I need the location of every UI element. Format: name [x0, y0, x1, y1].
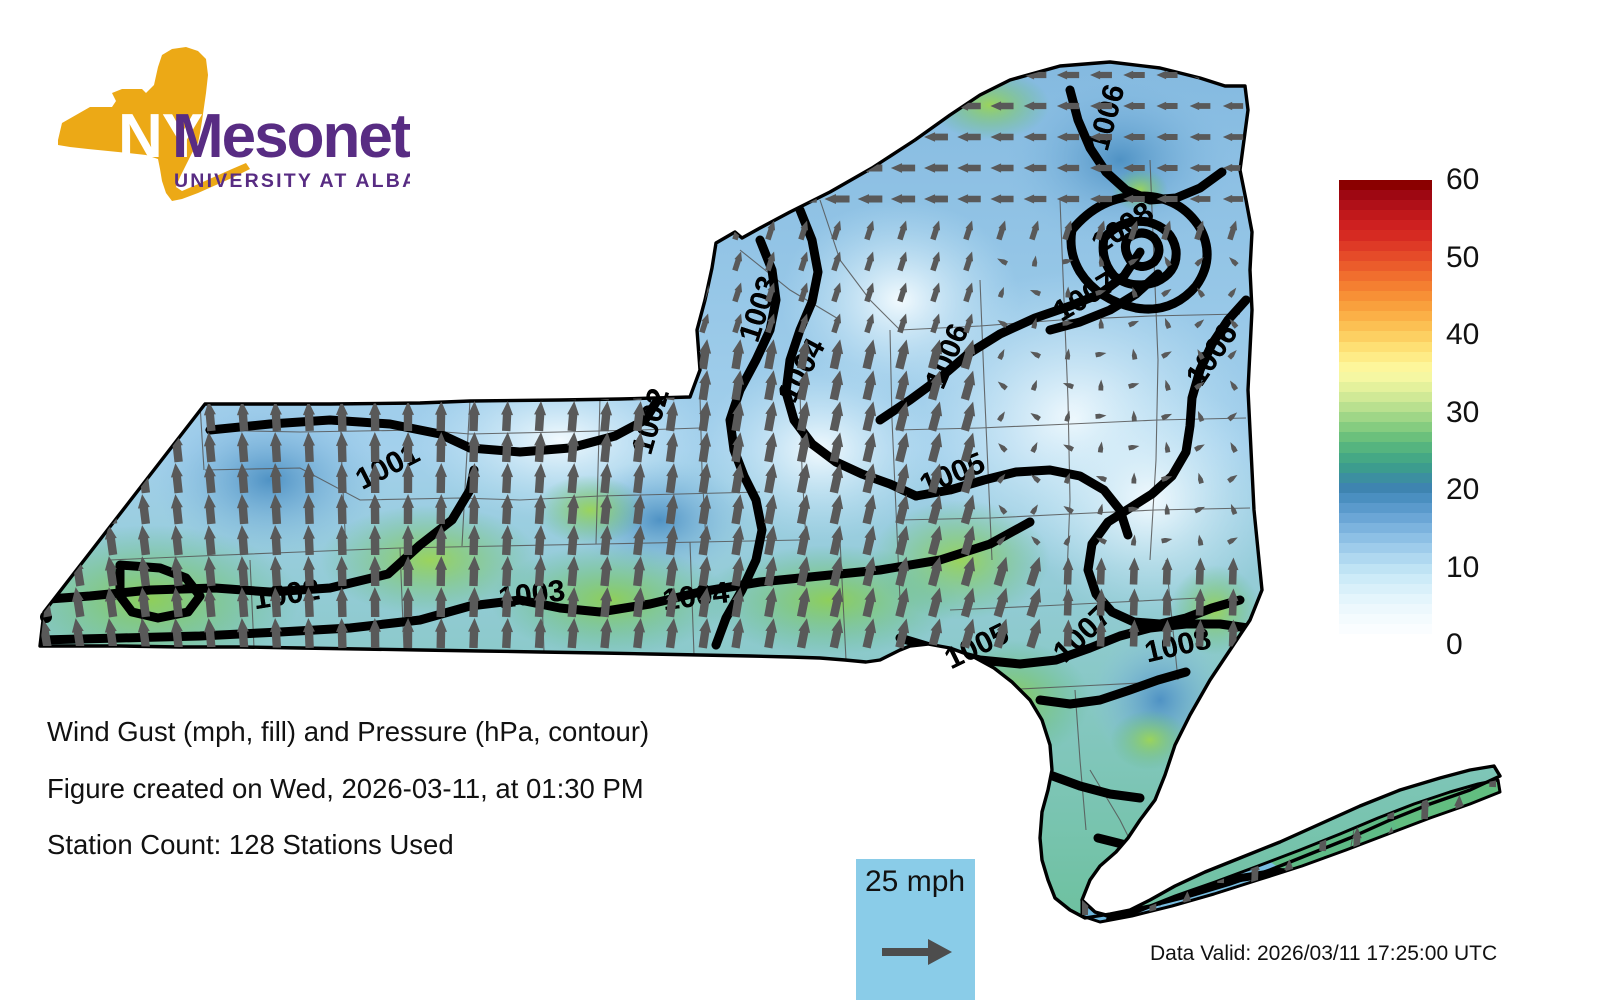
wind-gust-arrow	[136, 276, 152, 307]
wind-gust-arrow	[1216, 827, 1226, 851]
colorbar-band	[1339, 230, 1432, 240]
wind-gust-arrow	[1352, 859, 1362, 883]
logo-mesonet-text: Mesonet	[172, 102, 410, 171]
wind-gust-arrow	[402, 246, 414, 276]
wind-gust-arrow	[70, 493, 87, 525]
wind-gust-arrow	[203, 277, 218, 308]
wind-gust-arrow	[467, 246, 480, 276]
colorbar-band	[1339, 301, 1432, 311]
wind-gust-arrow	[70, 245, 87, 277]
wind-gust-arrow	[435, 60, 448, 90]
colorbar-band	[1339, 402, 1432, 412]
wind-gust-arrow	[103, 338, 119, 369]
colorbar-band	[1339, 604, 1432, 614]
colorbar-band	[1339, 574, 1432, 584]
colorbar-band	[1339, 271, 1432, 281]
wind-gust-arrow	[70, 307, 87, 339]
wind-gust-arrow	[566, 215, 580, 246]
wind-gust-arrow	[533, 60, 547, 91]
wind-gust-arrow	[1250, 891, 1260, 915]
wind-gust-arrow	[791, 70, 816, 80]
wind-gust-arrow	[1318, 891, 1328, 915]
wind-gust-arrow	[1352, 763, 1362, 787]
wind-gust-arrow	[1420, 859, 1430, 883]
wind-gust-arrow	[1454, 859, 1464, 883]
wind-gust-arrow	[136, 431, 152, 462]
wind-gust-arrow	[236, 370, 250, 401]
wind-gust-arrow	[169, 400, 184, 431]
colorbar-band	[1339, 624, 1432, 634]
wind-gust-arrow	[103, 493, 119, 524]
wind-gust-arrow	[203, 215, 218, 246]
wind-gust-arrow	[533, 308, 547, 339]
wind-gust-arrow	[731, 64, 745, 85]
wind-gust-arrow	[70, 431, 87, 463]
arrow-right-icon	[882, 935, 954, 969]
wind-gust-arrow	[402, 308, 414, 338]
colorbar-band	[1339, 321, 1432, 331]
wind-gust-arrow	[632, 157, 646, 178]
logo-subtitle-text: UNIVERSITY AT ALBANY	[174, 170, 410, 192]
wind-gust-arrow	[632, 312, 646, 333]
wind-gust-arrow	[791, 101, 816, 111]
wind-gust-arrow	[37, 493, 54, 525]
wind-gust-arrow	[533, 277, 547, 308]
wind-gust-arrow	[1386, 763, 1396, 787]
wind-gust-arrow	[435, 277, 448, 307]
wind-gust-arrow	[435, 246, 448, 276]
colorbar-tick-label: 30	[1446, 398, 1479, 428]
wind-gust-arrow	[632, 188, 646, 209]
wind-gust-arrow	[467, 91, 480, 121]
wind-gust-arrow	[698, 188, 712, 209]
wind-gust-arrow	[37, 462, 54, 494]
wind-gust-arrow	[599, 369, 614, 400]
wind-gust-arrow	[533, 246, 547, 277]
wind-gust-arrow	[467, 215, 480, 245]
wind-gust-arrow	[1454, 891, 1464, 915]
wind-gust-arrow	[500, 122, 514, 153]
wind-gust-arrow	[302, 246, 315, 277]
wind-gust-arrow	[731, 126, 745, 147]
colorbar-band	[1339, 533, 1432, 543]
wind-gust-arrow	[599, 183, 614, 214]
wind-gust-arrow	[632, 95, 646, 116]
wind-gust-arrow	[500, 370, 514, 401]
colorbar-band	[1339, 291, 1432, 301]
wind-gust-arrow	[500, 277, 514, 308]
wind-gust-arrow	[103, 431, 119, 462]
wind-gust-arrow	[369, 215, 381, 245]
wind-gust-arrow	[136, 245, 152, 276]
wind-gust-arrow	[1250, 827, 1260, 851]
wind-gust-arrow	[957, 70, 980, 79]
caption-created: Figure created on Wed, 2026-03-11, at 01…	[47, 775, 649, 803]
colorbar	[1339, 180, 1432, 645]
wind-gust-arrow	[37, 524, 54, 556]
colorbar-band	[1339, 412, 1432, 422]
wind-gust-arrow	[402, 277, 414, 307]
wind-gust-arrow	[435, 339, 448, 369]
colorbar-band	[1339, 634, 1432, 644]
colorbar-tick-label: 50	[1446, 243, 1479, 273]
wind-gust-arrow	[698, 64, 712, 85]
wind-gust-arrow	[37, 431, 54, 463]
colorbar-band	[1339, 372, 1432, 382]
colorbar-tick-label: 60	[1446, 165, 1479, 195]
wind-gust-arrow	[302, 370, 315, 401]
wind-gust-arrow	[302, 308, 315, 339]
wind-gust-arrow	[103, 245, 119, 276]
wind-gust-arrow	[203, 370, 218, 401]
wind-gust-arrow	[369, 370, 381, 400]
wind-gust-arrow	[500, 91, 514, 122]
wind-gust-arrow	[665, 188, 679, 209]
wind-gust-arrow	[1488, 827, 1498, 851]
colorbar-band	[1339, 614, 1432, 624]
colorbar-band	[1339, 493, 1432, 503]
colorbar-band	[1339, 503, 1432, 513]
wind-gust-arrow	[1420, 891, 1430, 915]
wind-gust-arrow	[236, 308, 250, 339]
wind-gust-arrow	[533, 122, 547, 153]
colorbar-tick-label: 40	[1446, 320, 1479, 350]
wind-gust-arrow	[402, 370, 414, 400]
wind-gust-arrow	[103, 400, 119, 431]
colorbar-tick-label: 20	[1446, 475, 1479, 505]
colorbar-band	[1339, 473, 1432, 483]
colorbar-band	[1339, 251, 1432, 261]
wind-gust-arrow	[103, 462, 119, 493]
wind-gust-arrow	[136, 214, 152, 245]
colorbar-band	[1339, 392, 1432, 402]
wind-gust-arrow	[336, 370, 349, 400]
wind-gust-arrow	[1182, 795, 1192, 819]
wind-gust-arrow	[599, 152, 614, 183]
wind-gust-arrow	[236, 215, 250, 246]
wind-gust-arrow	[891, 101, 915, 111]
wind-gust-arrow	[924, 70, 948, 80]
wind-gust-arrow	[37, 245, 54, 277]
wind-gust-arrow	[70, 400, 87, 432]
wind-gust-arrow	[665, 64, 679, 85]
wind-gust-arrow	[37, 307, 54, 339]
colorbar-band	[1339, 513, 1432, 523]
wind-gust-arrow	[824, 163, 849, 173]
wind-gust-arrow	[500, 246, 514, 277]
wind-gust-arrow	[467, 339, 480, 369]
wind-gust-arrow	[37, 555, 54, 587]
colorbar-band	[1339, 553, 1432, 563]
wind-gust-arrow	[103, 307, 119, 338]
wind-gust-arrow	[599, 276, 614, 307]
wind-gust-arrow	[269, 277, 283, 308]
wind-gust-arrow	[136, 307, 152, 338]
wind-gust-arrow	[435, 308, 448, 338]
colorbar-band	[1339, 442, 1432, 452]
wind-gust-arrow	[37, 369, 54, 401]
wind-gust-arrow	[269, 339, 283, 370]
wind-gust-arrow	[435, 122, 448, 152]
wind-gust-arrow	[698, 126, 712, 147]
wind-gust-arrow	[269, 308, 283, 339]
wind-gust-arrow	[533, 339, 547, 370]
wind-gust-arrow	[599, 338, 614, 369]
wind-gust-arrow	[698, 95, 712, 116]
wind-gust-arrow	[103, 369, 119, 400]
wind-gust-arrow	[891, 70, 915, 80]
wind-gust-arrow	[1223, 71, 1243, 79]
wind-gust-arrow	[858, 132, 883, 142]
wind-gust-arrow	[136, 338, 152, 369]
wind-gust-arrow	[467, 370, 480, 400]
colorbar-band	[1339, 180, 1432, 190]
wind-gust-arrow	[236, 277, 250, 308]
wind-gust-arrow	[336, 277, 349, 307]
wind-gust-arrow	[566, 308, 580, 339]
wind-gust-arrow	[731, 157, 745, 178]
wind-gust-arrow	[1318, 763, 1328, 787]
wind-gust-arrow	[599, 59, 614, 90]
wind-gust-arrow	[632, 64, 646, 85]
wind-gust-arrow	[1182, 763, 1192, 787]
wind-gust-arrow	[302, 339, 315, 370]
wind-gust-arrow	[731, 188, 745, 209]
wind-gust-arrow	[269, 215, 283, 246]
colorbar-band	[1339, 281, 1432, 291]
wind-gust-arrow	[336, 215, 349, 245]
colorbar-band	[1339, 382, 1432, 392]
wind-gust-arrow	[533, 215, 547, 246]
colorbar-band	[1339, 422, 1432, 432]
wind-gust-arrow	[500, 153, 514, 184]
wind-gust-arrow	[1182, 827, 1192, 851]
wind-gust-arrow	[236, 246, 250, 277]
wind-gust-arrow	[698, 219, 712, 240]
wind-gust-arrow	[467, 308, 480, 338]
wind-gust-arrow	[70, 214, 87, 246]
wind-gust-arrow	[500, 308, 514, 339]
colorbar-band	[1339, 311, 1432, 321]
colorbar-band	[1339, 523, 1432, 533]
wind-gust-arrow	[435, 370, 448, 400]
wind-gust-arrow	[70, 462, 87, 494]
wind-gust-arrow	[1488, 859, 1498, 883]
wind-gust-arrow	[103, 276, 119, 307]
colorbar-band	[1339, 331, 1432, 341]
wind-gust-arrow	[758, 132, 784, 142]
wind-gust-arrow	[336, 308, 349, 338]
wind-gust-arrow	[566, 153, 580, 184]
wind-gust-arrow	[169, 245, 184, 276]
wind-gust-arrow	[533, 153, 547, 184]
wind-gust-arrow	[824, 132, 849, 142]
wind-gust-arrow	[791, 163, 816, 173]
wind-gust-arrow	[665, 157, 679, 178]
nys-mesonet-logo: NYS Mesonet UNIVERSITY AT ALBANY	[50, 45, 410, 210]
wind-gust-arrow	[467, 153, 480, 183]
wind-gust-arrow	[169, 369, 184, 400]
caption-station-count: Station Count: 128 Stations Used	[47, 831, 649, 859]
wind-gust-arrow	[566, 370, 580, 401]
wind-gust-arrow	[37, 276, 54, 308]
wind-gust-arrow	[1386, 859, 1396, 883]
wind-gust-arrow	[169, 214, 184, 245]
wind-gust-arrow	[665, 312, 679, 333]
wind-gust-arrow	[500, 339, 514, 370]
wind-gust-arrow	[665, 126, 679, 147]
colorbar-band	[1339, 483, 1432, 493]
wind-gust-arrow	[37, 214, 54, 246]
wind-gust-arrow	[1148, 859, 1158, 883]
wind-gust-arrow	[103, 214, 119, 245]
colorbar-band	[1339, 190, 1432, 200]
colorbar-band	[1339, 210, 1432, 220]
wind-gust-arrow	[203, 308, 218, 339]
colorbar-band	[1339, 342, 1432, 352]
wind-gust-arrow	[758, 194, 784, 204]
wind-gust-arrow	[731, 95, 745, 116]
colorbar-tick-label: 0	[1446, 630, 1463, 660]
wind-gust-arrow	[467, 122, 480, 152]
wind-gust-arrow	[169, 307, 184, 338]
wind-gust-arrow	[858, 101, 883, 111]
wind-scale-key: 25 mph	[856, 859, 975, 1000]
wind-gust-arrow	[698, 157, 712, 178]
wind-gust-arrow	[269, 370, 283, 401]
wind-gust-arrow	[632, 281, 646, 302]
wind-gust-arrow	[566, 184, 580, 215]
wind-gust-arrow	[665, 281, 679, 302]
wind-gust-arrow	[500, 60, 514, 91]
wind-gust-arrow	[1250, 795, 1260, 819]
wind-gust-arrow	[203, 246, 218, 277]
wind-gust-arrow	[169, 338, 184, 369]
wind-gust-arrow	[566, 91, 580, 122]
wind-gust-arrow	[402, 339, 414, 369]
wind-gust-arrow	[1488, 891, 1498, 915]
wind-gust-arrow	[599, 90, 614, 121]
wind-gust-arrow	[632, 219, 646, 240]
wind-gust-arrow	[1216, 795, 1226, 819]
wind-gust-arrow	[1250, 763, 1260, 787]
wind-gust-arrow	[599, 121, 614, 152]
wind-gust-arrow	[1420, 827, 1430, 851]
colorbar-band	[1339, 362, 1432, 372]
wind-gust-arrow	[824, 101, 849, 111]
wind-gust-arrow	[302, 215, 315, 246]
wind-gust-arrow	[467, 60, 480, 90]
wind-gust-arrow	[566, 277, 580, 308]
wind-gust-arrow	[336, 339, 349, 369]
wind-gust-arrow	[791, 132, 816, 142]
colorbar-tick-labels: 6050403020100	[1446, 160, 1536, 670]
wind-gust-arrow	[533, 184, 547, 215]
wind-gust-arrow	[758, 101, 784, 111]
wind-gust-arrow	[698, 250, 712, 271]
wind-gust-arrow	[1114, 859, 1124, 883]
wind-gust-arrow	[435, 91, 448, 121]
wind-gust-arrow	[566, 339, 580, 370]
colorbar-band	[1339, 432, 1432, 442]
wind-gust-arrow	[758, 70, 784, 80]
wind-gust-arrow	[1318, 795, 1328, 819]
colorbar-band	[1339, 352, 1432, 362]
colorbar-band	[1339, 200, 1432, 210]
caption-title: Wind Gust (mph, fill) and Pressure (hPa,…	[47, 718, 649, 746]
wind-gust-arrow	[924, 101, 948, 111]
wind-gust-arrow	[369, 339, 381, 369]
wind-gust-arrow	[269, 246, 283, 277]
wind-gust-arrow	[566, 60, 580, 91]
wind-gust-arrow	[1284, 763, 1294, 787]
wind-gust-arrow	[302, 277, 315, 308]
caption-block: Wind Gust (mph, fill) and Pressure (hPa,…	[47, 718, 649, 888]
colorbar-band	[1339, 584, 1432, 594]
wind-gust-arrow	[369, 277, 381, 307]
wind-gust-arrow	[1284, 795, 1294, 819]
wind-gust-arrow	[203, 339, 218, 370]
data-valid-timestamp: Data Valid: 2026/03/11 17:25:00 UTC	[1150, 942, 1497, 966]
wind-gust-arrow	[632, 250, 646, 271]
wind-gust-arrow	[37, 338, 54, 370]
wind-gust-arrow	[336, 246, 349, 276]
colorbar-band	[1339, 594, 1432, 604]
wind-gust-arrow	[369, 246, 381, 276]
wind-gust-arrow	[467, 184, 480, 214]
colorbar-band	[1339, 453, 1432, 463]
colorbar-band	[1339, 543, 1432, 553]
wind-gust-arrow	[533, 91, 547, 122]
wind-gust-arrow	[169, 276, 184, 307]
wind-gust-arrow	[824, 70, 849, 80]
wind-gust-arrow	[599, 214, 614, 245]
colorbar-tick-label: 10	[1446, 553, 1479, 583]
wind-gust-arrow	[631, 338, 646, 369]
wind-gust-arrow	[435, 215, 448, 245]
wind-gust-arrow	[500, 184, 514, 215]
wind-gust-arrow	[1318, 859, 1328, 883]
wind-gust-arrow	[435, 153, 448, 183]
wind-gust-arrow	[37, 400, 54, 432]
wind-gust-arrow	[1454, 827, 1464, 851]
wind-gust-arrow	[665, 219, 679, 240]
wind-gust-arrow	[70, 338, 87, 370]
wind-gust-arrow	[1488, 795, 1498, 819]
wind-gust-arrow	[402, 215, 414, 245]
wind-gust-arrow	[136, 369, 152, 400]
colorbar-band	[1339, 564, 1432, 574]
wind-gust-arrow	[435, 184, 448, 214]
wind-gust-arrow	[858, 70, 883, 80]
wind-gust-arrow	[369, 308, 381, 338]
wind-gust-arrow	[665, 250, 679, 271]
wind-gust-arrow	[599, 245, 614, 276]
colorbar-band	[1339, 261, 1432, 271]
wind-gust-arrow	[566, 246, 580, 277]
wind-gust-arrow	[70, 524, 87, 556]
wind-gust-arrow	[236, 339, 250, 370]
wind-gust-arrow	[70, 276, 87, 308]
colorbar-band	[1339, 463, 1432, 473]
wind-gust-arrow	[136, 400, 152, 431]
wind-gust-arrow	[632, 126, 646, 147]
wind-gust-arrow	[758, 163, 784, 173]
wind-key-label: 25 mph	[865, 865, 965, 899]
wind-gust-arrow	[1216, 763, 1226, 787]
wind-gust-arrow	[599, 307, 614, 338]
wind-gust-arrow	[500, 215, 514, 246]
